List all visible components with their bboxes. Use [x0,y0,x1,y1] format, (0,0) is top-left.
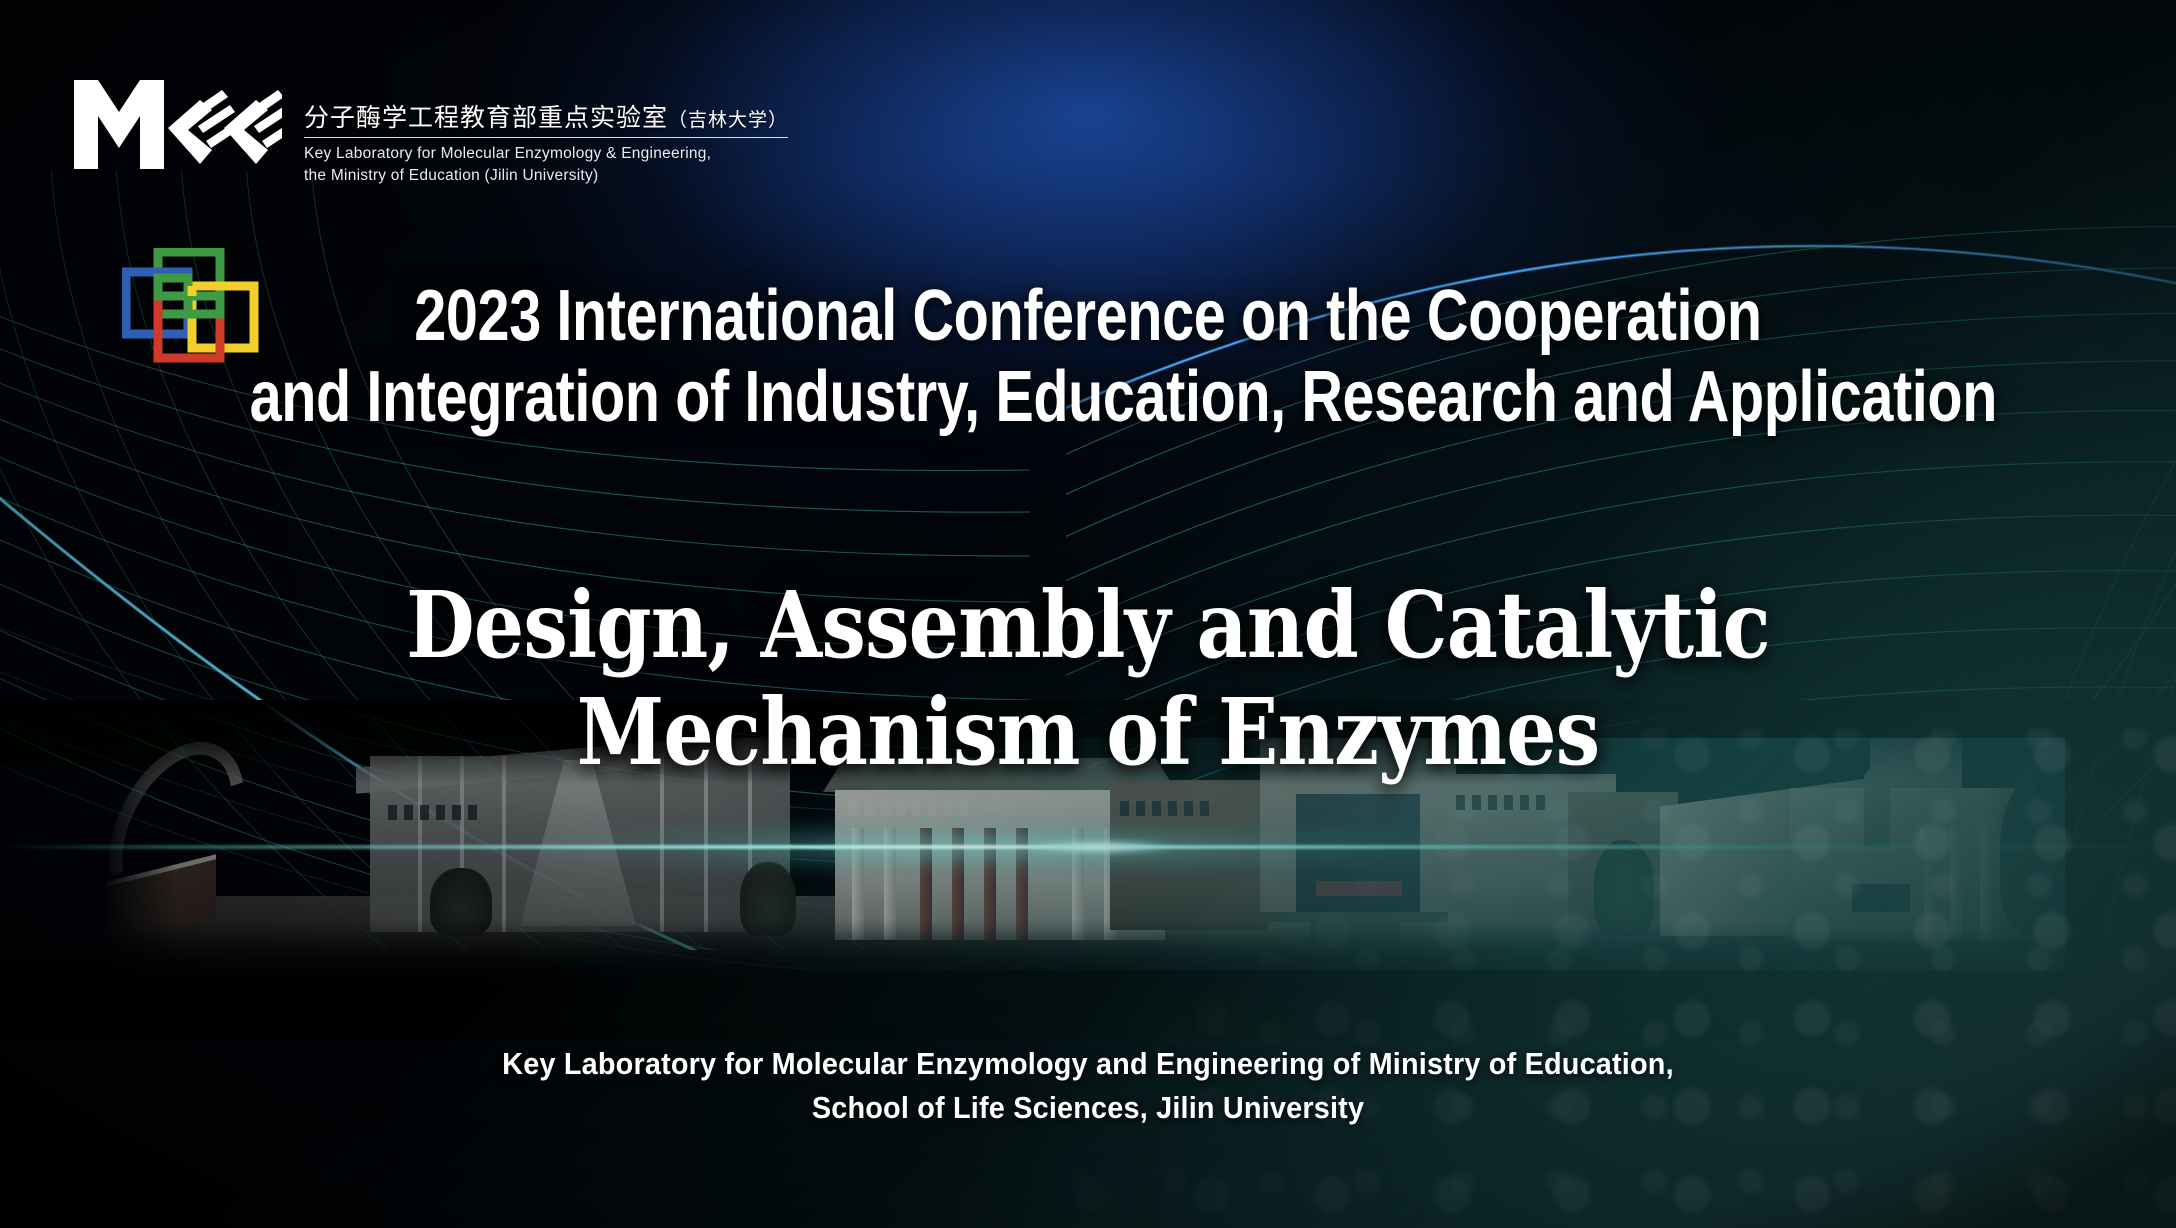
topic-title-line2: Mechanism of Enzymes [152,679,2023,786]
conference-title: 2023 International Conference on the Coo… [218,276,1959,437]
footer-caption-line1: Key Laboratory for Molecular Enzymology … [76,1042,2100,1086]
lab-logo: 分子酶学工程教育部重点实验室（吉林大学） Key Laboratory for … [72,72,788,187]
lab-name-english-line2: the Ministry of Education (Jilin Univers… [304,165,788,187]
mee-monogram-icon [72,72,282,177]
lab-name-chinese-main: 分子酶学工程教育部重点实验室 [304,103,668,132]
topic-title-line1: Design, Assembly and Catalytic [152,572,2023,679]
lab-name-english: Key Laboratory for Molecular Enzymology … [304,143,788,187]
conference-title-line1: 2023 International Conference on the Coo… [250,276,1927,357]
footer-caption: Key Laboratory for Molecular Enzymology … [76,1042,2100,1130]
conference-slide: 分子酶学工程教育部重点实验室（吉林大学） Key Laboratory for … [0,0,2176,1228]
lab-logo-text: 分子酶学工程教育部重点实验室（吉林大学） Key Laboratory for … [304,72,788,187]
lab-name-english-line1: Key Laboratory for Molecular Enzymology … [304,143,788,165]
topic-title: Design, Assembly and Catalytic Mechanism… [152,572,2023,785]
lab-name-chinese-paren: （吉林大学） [668,109,788,131]
conference-title-line2: and Integration of Industry, Education, … [250,357,1927,438]
footer-caption-line2: School of Life Sciences, Jilin Universit… [76,1086,2100,1130]
lab-name-chinese: 分子酶学工程教育部重点实验室（吉林大学） [304,98,788,138]
